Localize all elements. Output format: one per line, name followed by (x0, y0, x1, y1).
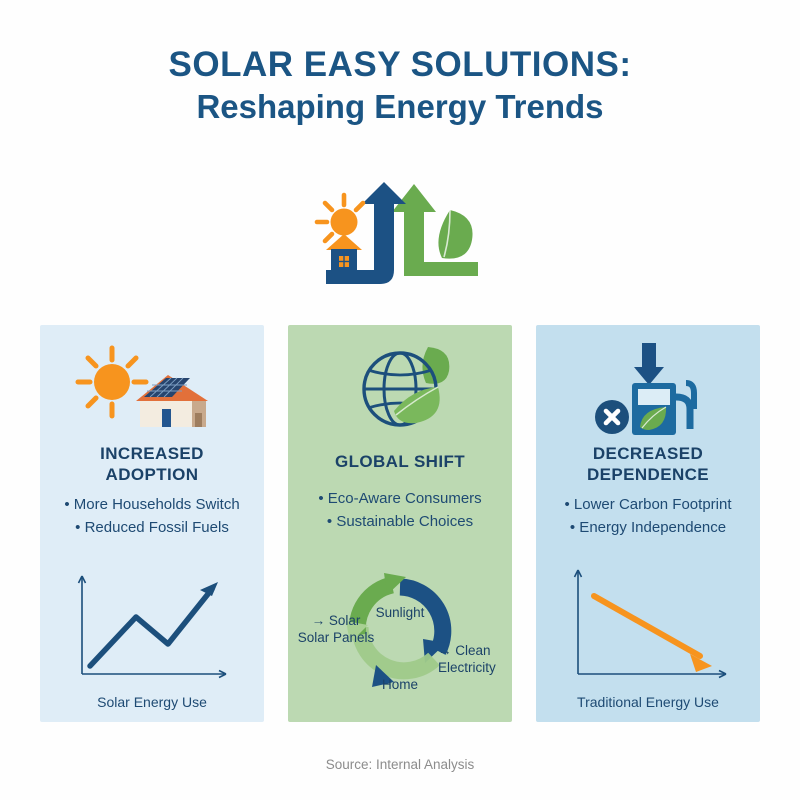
page-title-line2: Reshaping Energy Trends (0, 88, 800, 126)
cycle-label-line2: Solar Panels (290, 630, 382, 647)
source-note: Source: Internal Analysis (0, 757, 800, 772)
bullet-list-increased-adoption: • More Households Switch • Reduced Fossi… (40, 493, 264, 540)
cycle-label-line1: → Solar (290, 613, 382, 630)
column-title-line1: INCREASED (40, 443, 264, 464)
column-title-line1: DECREASED (536, 443, 760, 464)
page-title-line1: SOLAR EASY SOLUTIONS: (0, 46, 800, 84)
column-title-decreased-dependence: DECREASED DEPENDENCE (536, 443, 760, 486)
column-increased-adoption[interactable]: INCREASED ADOPTION • More Households Swi… (40, 325, 264, 722)
header: SOLAR EASY SOLUTIONS: Reshaping Energy T… (0, 46, 800, 126)
list-item: • Sustainable Choices (288, 510, 512, 533)
column-title-line2: ADOPTION (40, 464, 264, 485)
cycle-label-home: Home (288, 677, 512, 694)
bullet-list-global-shift: • Eco-Aware Consumers • Sustainable Choi… (288, 487, 512, 534)
chart-caption-solar-energy-use: Solar Energy Use (40, 694, 264, 710)
cycle-label-line1: → Clean (438, 643, 496, 660)
column-global-shift[interactable]: GLOBAL SHIFT • Eco-Aware Consumers • Sus… (288, 325, 512, 722)
list-item: • Reduced Fossil Fuels (40, 516, 264, 539)
solar-cycle-diagram: Sunlight → Clean Electricity Home → Sola… (288, 555, 512, 720)
column-title-line1: GLOBAL SHIFT (288, 451, 512, 472)
column-title-global-shift: GLOBAL SHIFT (288, 451, 512, 472)
list-item: • More Households Switch (40, 493, 264, 516)
globe-leaf-icon (288, 339, 512, 439)
list-item: • Energy Independence (536, 516, 760, 539)
sun-solar-house-icon (40, 339, 264, 439)
list-item: • Eco-Aware Consumers (288, 487, 512, 510)
infographic-canvas: SOLAR EASY SOLUTIONS: Reshaping Energy T… (0, 0, 800, 800)
column-decreased-dependence[interactable]: DECREASED DEPENDENCE • Lower Carbon Foot… (536, 325, 760, 722)
cycle-label-solar-panels: → Solar Solar Panels (290, 613, 382, 647)
solar-house-growth-leaf-icon (300, 176, 500, 291)
columns-container: INCREASED ADOPTION • More Households Swi… (0, 325, 800, 725)
column-title-line2: DEPENDENCE (536, 464, 760, 485)
bullet-list-decreased-dependence: • Lower Carbon Footprint • Energy Indepe… (536, 493, 760, 540)
cycle-label-line2: Electricity (438, 660, 496, 677)
chart-traditional-energy-use (536, 548, 760, 708)
cycle-label-clean-electricity: → Clean Electricity (438, 643, 496, 677)
chart-caption-traditional-energy-use: Traditional Energy Use (536, 694, 760, 710)
hero-icon (300, 176, 500, 291)
fuel-pump-down-arrow-icon (536, 339, 760, 439)
chart-solar-energy-use (40, 548, 264, 708)
list-item: • Lower Carbon Footprint (536, 493, 760, 516)
column-title-increased-adoption: INCREASED ADOPTION (40, 443, 264, 486)
